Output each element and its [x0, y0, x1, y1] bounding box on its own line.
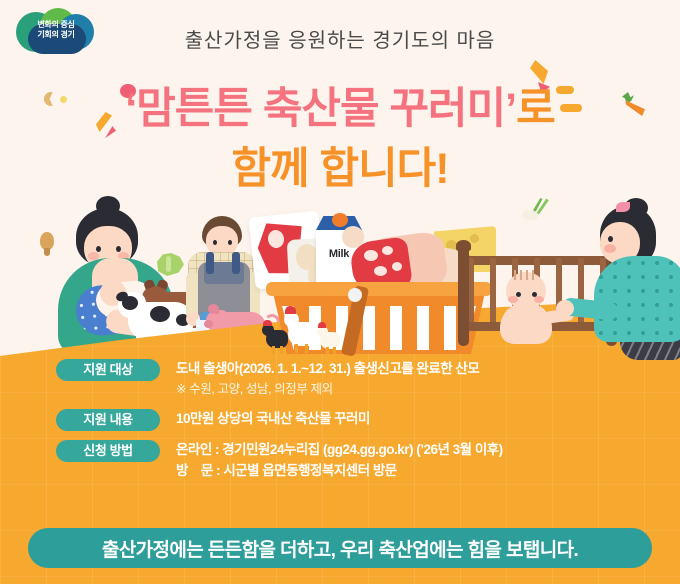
right-woman-polka-dot-pattern	[594, 256, 680, 342]
poster-root: Milk	[0, 0, 680, 584]
crib-finial-left	[456, 240, 471, 251]
dark-hen-leg	[280, 346, 283, 354]
info-row: 지원 내용 10만원 상당의 국내산 축산물 꾸러미	[0, 408, 680, 431]
headline-quoted-program-name: ‘맘튼튼 축산물 꾸러미’	[125, 85, 516, 133]
info-row: 지원 대상 도내 출생아(2026. 1. 1.~12. 31.) 출생신고를 …	[0, 358, 680, 400]
info-note: ※ 수원, 고양, 성남, 의정부 제외	[176, 379, 479, 400]
info-value-line-online[interactable]: 온라인 : 경기민원24누리집 (gg24.gg.go.kr) (’26년 3월…	[176, 439, 503, 460]
info-body: 도내 출생아(2026. 1. 1.~12. 31.) 출생신고를 완료한 산모…	[176, 358, 479, 400]
bottom-slogan-banner: 출산가정에는 든든함을 더하고, 우리 축산업에는 힘을 보탭니다.	[28, 528, 652, 568]
white-hen-leg	[305, 344, 308, 353]
info-label-support-content: 지원 내용	[56, 409, 160, 431]
info-body: 온라인 : 경기민원24누리집 (gg24.gg.go.kr) (’26년 3월…	[176, 439, 503, 481]
info-value-line-visit: 방 문 : 시군별 읍면동행정복지센터 방문	[176, 460, 503, 481]
wheat-sheaf-stem	[44, 248, 50, 256]
ham-marbling	[382, 246, 393, 255]
crib-baby-hair	[514, 270, 538, 280]
spring-onion-bulb	[522, 210, 538, 220]
mother-hair-bun	[96, 196, 120, 216]
cheese-hole	[470, 234, 479, 243]
chick-leg	[326, 347, 329, 354]
pig-snout	[204, 320, 213, 328]
right-woman-hair-bow	[616, 202, 630, 212]
info-value-line: 10만원 상당의 국내산 축산물 꾸러미	[176, 408, 370, 429]
farmer-eye-left	[213, 240, 217, 245]
ham-marbling	[364, 250, 378, 261]
info-value-line: 도내 출생아(2026. 1. 1.~12. 31.) 출생신고를 완료한 산모	[176, 358, 479, 379]
info-label-application-method: 신청 방법	[56, 440, 160, 462]
farmer-apron-strap-right	[232, 252, 240, 274]
info-label-support-target: 지원 대상	[56, 359, 160, 381]
info-section: 지원 대상 도내 출생아(2026. 1. 1.~12. 31.) 출생신고를 …	[0, 358, 680, 489]
dark-hen-comb	[263, 320, 272, 326]
spotted-cow-spot-1	[122, 296, 138, 310]
lettuce-icon	[154, 252, 184, 276]
ham-marbling	[392, 262, 402, 271]
info-body: 10만원 상당의 국내산 축산물 꾸러미	[176, 408, 370, 429]
right-woman-cheek	[604, 244, 616, 253]
crib-baby-cheek-left	[508, 296, 518, 303]
mother-eye-right	[116, 246, 121, 252]
pig-ear	[208, 304, 219, 314]
milk-carton-dot	[332, 213, 348, 227]
right-woman-hand	[556, 300, 574, 317]
basket-handle-knob	[348, 288, 362, 302]
lettuce-vein	[166, 256, 171, 272]
chick-leg	[333, 347, 336, 354]
spring-onion-icon	[520, 198, 550, 224]
mother-eye-left	[96, 246, 101, 252]
spotted-cow-spot-2	[150, 306, 170, 322]
white-hen-head	[284, 312, 299, 327]
poster-subtitle: 출산가정을 응원하는 경기도의 마음	[0, 24, 680, 53]
farmer-apron-strap-left	[206, 252, 214, 274]
headline-particle: 로	[516, 85, 555, 133]
dark-hen-leg	[272, 346, 275, 354]
chick-comb	[318, 322, 326, 328]
crib-baby-cheek-right	[534, 296, 544, 303]
farmer-eye-right	[228, 240, 232, 245]
crib-post-left	[458, 246, 469, 346]
info-row: 신청 방법 온라인 : 경기민원24누리집 (gg24.gg.go.kr) (’…	[0, 439, 680, 481]
right-woman-eye	[608, 236, 613, 242]
wheat-sheaf-icon	[38, 232, 56, 258]
white-hen-leg	[295, 344, 298, 353]
poster-headline-primary: ‘맘튼튼 축산물 꾸러미’로	[0, 74, 680, 136]
poster-headline-secondary: 함께 합니다!	[0, 134, 680, 196]
white-hen-comb	[285, 306, 296, 314]
ham-marbling	[374, 266, 387, 276]
